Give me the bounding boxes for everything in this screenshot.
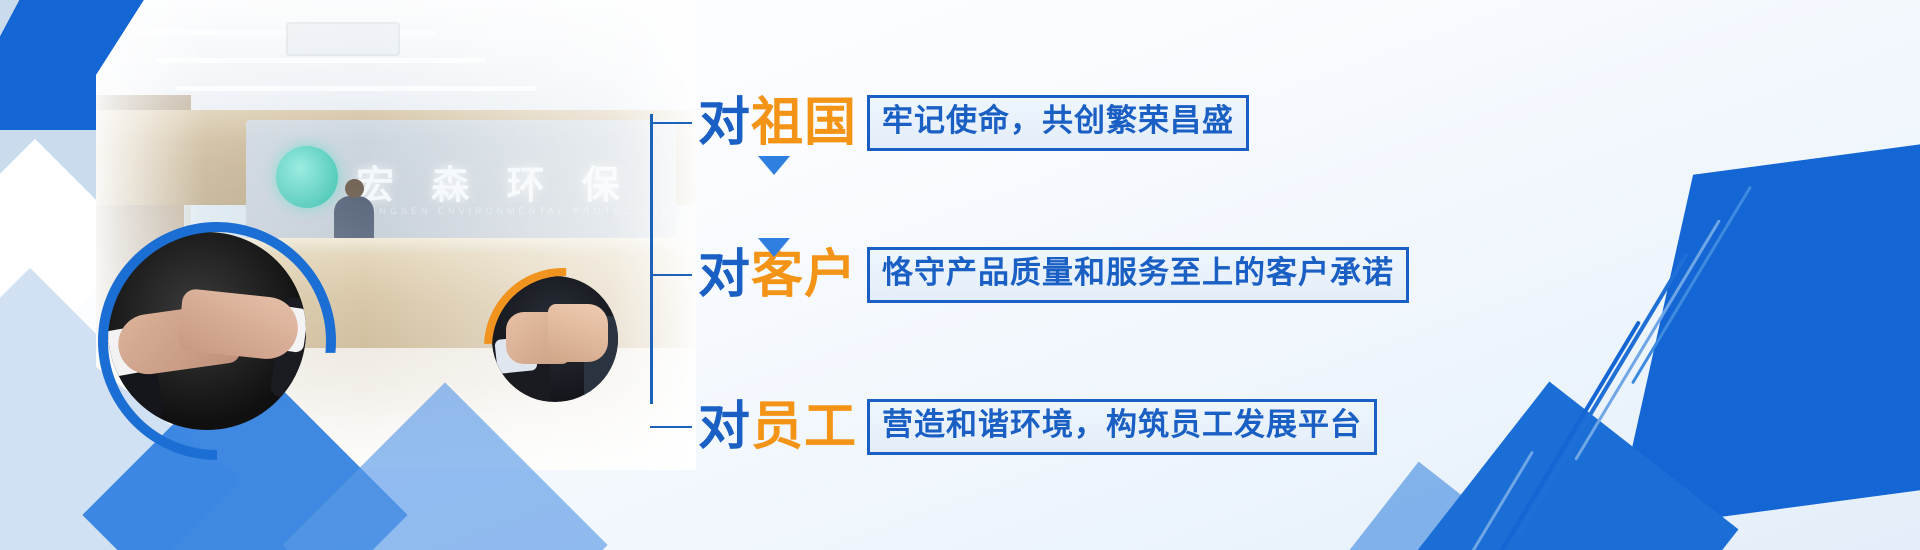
row-tick-mark (650, 274, 692, 276)
value-tagline-country: 牢记使命，共创繁荣昌盛 (867, 95, 1249, 151)
value-prefix: 对 (698, 93, 751, 153)
values-list: 对祖国 牢记使命，共创繁荣昌盛 对客户 恪守产品质量和服务至上的客户承诺 对员工… (650, 70, 1450, 450)
value-heading-country: 对祖国 (698, 97, 857, 149)
row-tick-mark (650, 426, 692, 428)
value-row-employee: 对员工 营造和谐环境，构筑员工发展平台 (650, 392, 1450, 462)
value-subject: 祖国 (751, 93, 857, 153)
value-subject: 员工 (751, 397, 857, 457)
triangle-down-icon (758, 238, 790, 257)
triangle-down-icon (758, 156, 790, 175)
value-heading-employee: 对员工 (698, 401, 857, 453)
value-prefix: 对 (698, 245, 751, 305)
value-row-country: 对祖国 牢记使命，共创繁荣昌盛 (650, 88, 1450, 158)
company-values-banner: 宏 森 环 保 HONGSEN ENVIRONMENTAL PROTECTION (0, 0, 1920, 550)
value-tagline-customer: 恪守产品质量和服务至上的客户承诺 (867, 247, 1409, 303)
value-tagline-employee: 营造和谐环境，构筑员工发展平台 (867, 399, 1377, 455)
value-prefix: 对 (698, 397, 751, 457)
row-tick-mark (650, 122, 692, 124)
